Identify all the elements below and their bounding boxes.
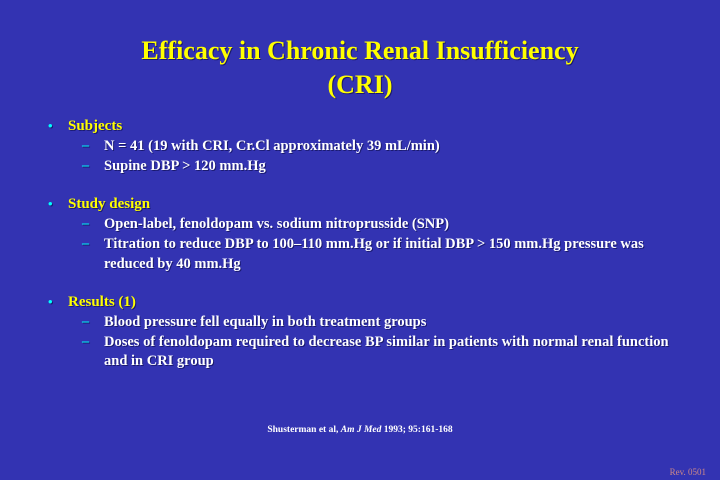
revision-label: Rev. 0501	[670, 467, 706, 477]
bullet-icon: •	[48, 197, 53, 210]
bullet-group-study-design: • Study design – Open-label, fenoldopam …	[30, 196, 690, 273]
citation-journal: Am J Med	[341, 425, 382, 435]
sub-bullet-item: – Supine DBP > 120 mm.Hg	[30, 157, 690, 176]
bullet-icon: •	[48, 119, 53, 132]
sub-bullet-label: Open-label, fenoldopam vs. sodium nitrop…	[104, 216, 449, 232]
slide-body: • Subjects – N = 41 (19 with CRI, Cr.Cl …	[30, 118, 690, 391]
dash-icon: –	[82, 235, 89, 253]
bullet-heading-label: Study design	[68, 196, 150, 212]
sub-bullet-label: Supine DBP > 120 mm.Hg	[104, 158, 266, 174]
title-line-1: Efficacy in Chronic Renal Insufficiency	[30, 34, 690, 68]
sub-bullet-item: – Blood pressure fell equally in both tr…	[30, 313, 690, 332]
title-line-2: (CRI)	[30, 68, 690, 102]
bullet-heading-results: • Results (1)	[30, 294, 690, 311]
bullet-heading-label: Subjects	[68, 118, 122, 134]
bullet-group-subjects: • Subjects – N = 41 (19 with CRI, Cr.Cl …	[30, 118, 690, 176]
citation: Shusterman et al, Am J Med 1993; 95:161-…	[0, 425, 720, 435]
bullet-heading-label: Results (1)	[68, 294, 136, 310]
sub-bullet-label: Blood pressure fell equally in both trea…	[104, 314, 426, 330]
sub-bullet-item: – Doses of fenoldopam required to decrea…	[30, 333, 690, 371]
sub-bullet-item: – Open-label, fenoldopam vs. sodium nitr…	[30, 215, 690, 234]
slide: Efficacy in Chronic Renal Insufficiency …	[0, 0, 720, 480]
dash-icon: –	[82, 137, 89, 155]
sub-bullet-label: Doses of fenoldopam required to decrease…	[104, 334, 669, 369]
bullet-group-results: • Results (1) – Blood pressure fell equa…	[30, 294, 690, 371]
dash-icon: –	[82, 313, 89, 331]
bullet-icon: •	[48, 295, 53, 308]
bullet-heading-study-design: • Study design	[30, 196, 690, 213]
dash-icon: –	[82, 157, 89, 175]
dash-icon: –	[82, 333, 89, 351]
sub-bullet-item: – N = 41 (19 with CRI, Cr.Cl approximate…	[30, 137, 690, 156]
sub-bullet-item: – Titration to reduce DBP to 100–110 mm.…	[30, 235, 690, 273]
citation-details: 1993; 95:161-168	[381, 425, 452, 435]
bullet-heading-subjects: • Subjects	[30, 118, 690, 135]
citation-authors: Shusterman et al,	[267, 425, 340, 435]
page-title: Efficacy in Chronic Renal Insufficiency …	[30, 34, 690, 103]
sub-bullet-label: N = 41 (19 with CRI, Cr.Cl approximately…	[104, 138, 440, 154]
sub-bullet-label: Titration to reduce DBP to 100–110 mm.Hg…	[104, 236, 644, 271]
dash-icon: –	[82, 215, 89, 233]
